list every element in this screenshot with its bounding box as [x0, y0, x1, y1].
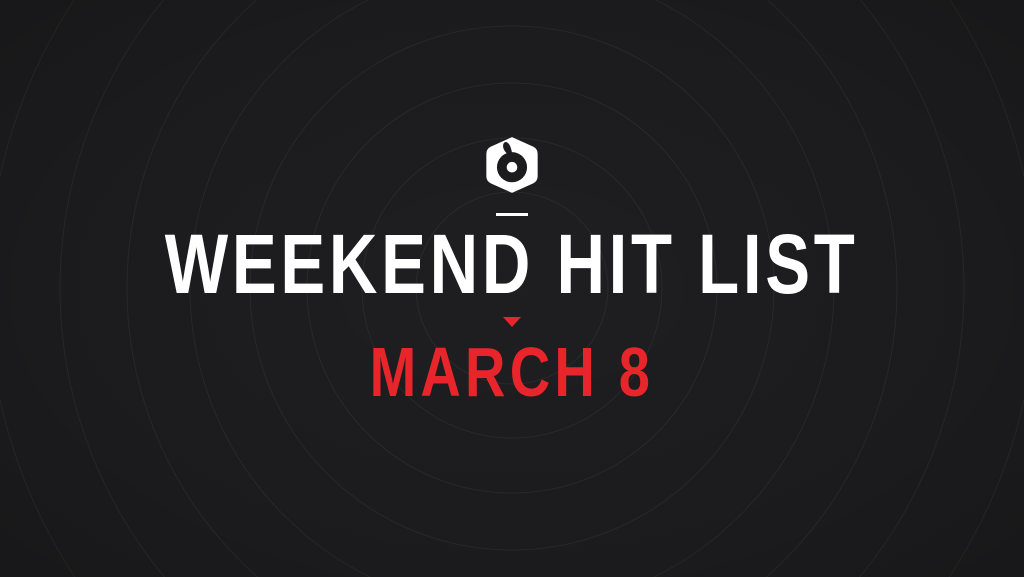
triangle-down-icon [503, 317, 521, 327]
weekend-hit-list-poster: WEEKEND HIT LIST MARCH 8 [0, 0, 1024, 577]
logo-b-center-dot [507, 162, 518, 173]
beatport-logo [484, 136, 540, 194]
divider-rule [496, 213, 528, 216]
page-title: WEEKEND HIT LIST [165, 227, 859, 303]
date-label: MARCH 8 [370, 339, 655, 406]
poster-content-stack: WEEKEND HIT LIST MARCH 8 [0, 0, 1024, 577]
